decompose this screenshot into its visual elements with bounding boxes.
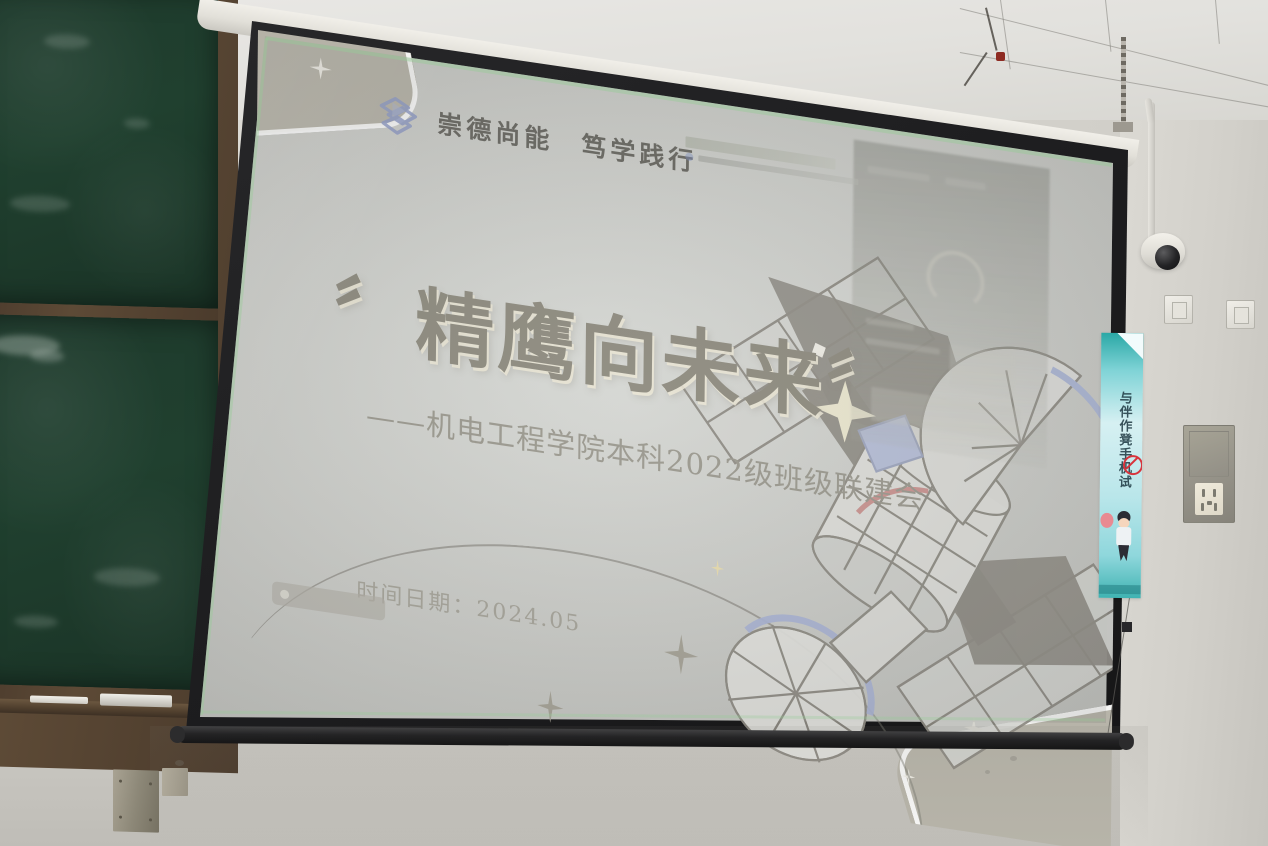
cartoon-student-legs — [1118, 545, 1129, 561]
power-outlet-box — [1183, 425, 1235, 523]
classroom-scene: 崇德尚能 笃学践行 〞精鹰向未来〞 ——机电工程学院本科2022级班级联建会 时… — [0, 0, 1268, 846]
power-outlet-icon[interactable] — [1195, 483, 1223, 515]
cartoon-student-body — [1116, 527, 1131, 546]
motto-left: 崇德尚能 — [437, 104, 553, 157]
bleed-logo-icon — [926, 247, 985, 314]
slide-header: 崇德尚能 笃学践行 — [375, 92, 697, 182]
classroom-rules-poster: 与伴作凳手机试 — [1099, 333, 1144, 598]
outlet-blank-plate — [1189, 431, 1229, 477]
motto-right: 笃学践行 — [581, 126, 697, 179]
no-phone-icon — [1123, 455, 1143, 475]
light-switch-icon-secondary[interactable] — [1226, 300, 1255, 329]
balloon-icon — [1100, 513, 1113, 528]
university-ribbon-logo-icon — [375, 92, 421, 141]
light-switch-icon[interactable] — [1164, 295, 1193, 324]
poster-footer-band — [1099, 585, 1141, 594]
wall-shadow — [150, 726, 1148, 846]
poster-corner-fold — [1117, 333, 1143, 359]
poster-text: 与伴作凳手机试 — [1102, 391, 1133, 489]
info-dot-icon — [685, 152, 693, 161]
projection-screen[interactable]: 崇德尚能 笃学践行 〞精鹰向未来〞 ——机电工程学院本科2022级班级联建会 时… — [0, 0, 1268, 846]
slide-motto: 崇德尚能 笃学践行 — [437, 104, 697, 179]
projected-slide: 崇德尚能 笃学践行 〞精鹰向未来〞 ——机电工程学院本科2022级班级联建会 时… — [251, 30, 1118, 846]
dome-camera-icon[interactable] — [1155, 245, 1180, 270]
screen-guide-clip-lower — [1122, 622, 1132, 632]
